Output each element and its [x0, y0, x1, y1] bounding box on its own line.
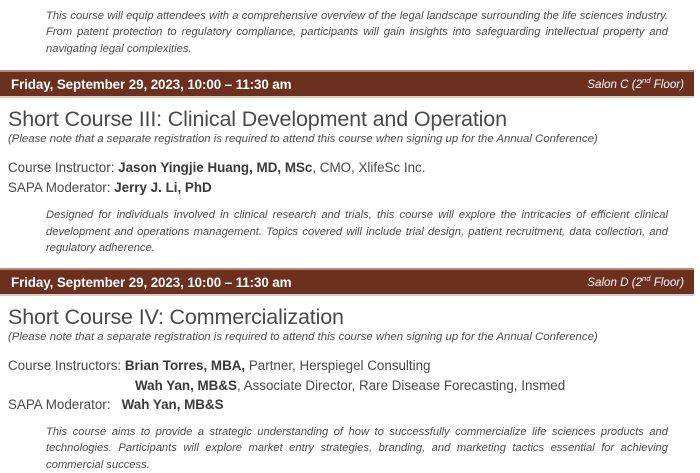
course-title-1: Short Course III: Clinical Development a… — [0, 106, 700, 132]
session-room-prefix-2: Salon D (2 — [587, 276, 642, 289]
session-room-superscript-2: nd — [642, 274, 650, 283]
spacer-before-people-1 — [0, 147, 700, 158]
instructor-affiliation-1-0: , CMO, XlifeSc Inc. — [312, 160, 425, 175]
instructor-name-2-0: Brian Torres, MBA, — [125, 358, 245, 373]
instructor-row-2-0: Course Instructors: Brian Torres, MBA, P… — [8, 356, 700, 376]
people-block-2: Course Instructors: Brian Torres, MBA, P… — [0, 356, 700, 415]
session-room-suffix-1: Floor) — [651, 78, 685, 91]
instructor-label-2: Course Instructors: — [8, 358, 121, 373]
session-datetime-2: Friday, September 29, 2023, 10:00 – 11:3… — [0, 275, 291, 290]
session-room-prefix-1: Salon C (2 — [587, 78, 642, 91]
spacer-after-bar-2 — [0, 296, 700, 304]
people-block-1: Course Instructor: Jason Yingjie Huang, … — [0, 158, 700, 197]
spacer-before-session-2 — [0, 256, 700, 268]
session-header-bar-1: Friday, September 29, 2023, 10:00 – 11:3… — [0, 70, 694, 98]
session-header-bar-2: Friday, September 29, 2023, 10:00 – 11:3… — [0, 268, 694, 296]
course-description-2: This course aims to provide a strategic … — [0, 424, 700, 473]
session-room-2: Salon D (2nd Floor) — [587, 276, 684, 289]
moderator-row-2: SAPA Moderator: Wah Yan, MB&S — [8, 395, 700, 415]
instructor-name-2-1: Wah Yan, MB&S — [135, 378, 237, 393]
course-registration-note-1: (Please note that a separate registratio… — [0, 132, 700, 147]
session-room-superscript-1: nd — [642, 76, 650, 85]
instructor-label-1: Course Instructor: — [8, 160, 114, 175]
course-description-1: Designed for individuals involved in cli… — [0, 207, 700, 256]
instructor-name-1-0: Jason Yingjie Huang, MD, MSc — [118, 160, 312, 175]
instructor-row-1-0: Course Instructor: Jason Yingjie Huang, … — [8, 158, 700, 178]
spacer-after-bar-1 — [0, 98, 700, 106]
spacer-before-people-2 — [0, 345, 700, 356]
session-room-1: Salon C (2nd Floor) — [587, 78, 684, 91]
moderator-name-2: Wah Yan, MB&S — [122, 397, 224, 412]
session-datetime-1: Friday, September 29, 2023, 10:00 – 11:3… — [0, 77, 291, 92]
moderator-name-1: Jerry J. Li, PhD — [114, 180, 212, 195]
moderator-row-1: SAPA Moderator: Jerry J. Li, PhD — [8, 178, 700, 198]
moderator-label-1: SAPA Moderator: — [8, 180, 110, 195]
instructor-affiliation-2-0: Partner, Herspiegel Consulting — [245, 358, 430, 373]
course-registration-note-2: (Please note that a separate registratio… — [0, 330, 700, 345]
conference-agenda-page: This course will equip attendees with a … — [0, 0, 700, 461]
course-title-2: Short Course IV: Commercialization — [0, 304, 700, 330]
top-spacer — [0, 0, 700, 8]
instructor-row-2-1: Wah Yan, MB&S, Associate Director, Rare … — [8, 376, 700, 396]
spacer-before-desc-2 — [0, 415, 700, 424]
instructor-affiliation-2-1: , Associate Director, Rare Disease Forec… — [237, 378, 565, 393]
moderator-label-2: SAPA Moderator: — [8, 397, 110, 412]
spacer-before-desc-1 — [0, 197, 700, 207]
intro-description-paragraph: This course will equip attendees with a … — [0, 8, 700, 57]
spacer-before-session-1 — [0, 57, 700, 70]
session-room-suffix-2: Floor) — [651, 276, 685, 289]
